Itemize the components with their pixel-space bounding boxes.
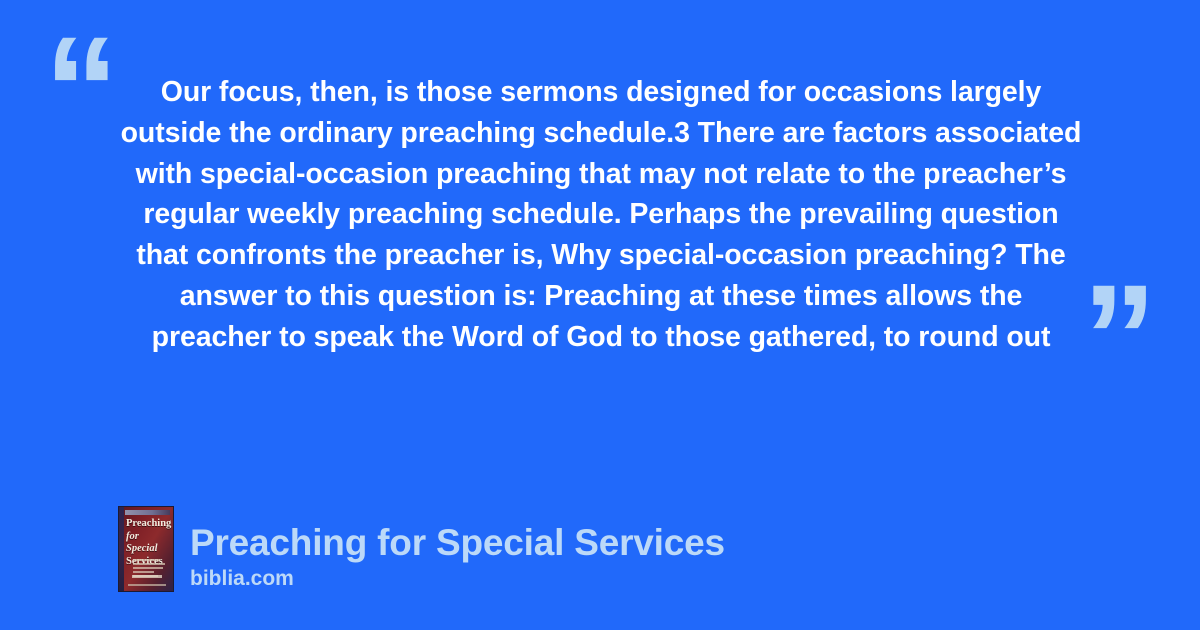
book-cover-top-band (125, 510, 170, 515)
book-cover-thumbnail: Preaching for Special Services (118, 506, 174, 592)
book-cover-subtitle-line (133, 567, 163, 569)
closing-quote-icon: ” (1082, 262, 1155, 412)
book-cover-title-line-1: Preaching (126, 518, 171, 529)
opening-quote-icon: “ (44, 14, 117, 164)
quote-card: “ Our focus, then, is those sermons desi… (0, 0, 1200, 630)
quote-text: Our focus, then, is those sermons design… (118, 72, 1084, 358)
book-spine (119, 507, 124, 591)
book-cover-title-line-2: for Special (126, 531, 158, 555)
book-title: Preaching for Special Services (190, 521, 725, 565)
book-cover-subtitle-line (133, 559, 160, 561)
site-name: biblia.com (190, 566, 725, 592)
book-cover-subtitle-line (133, 563, 165, 565)
book-cover-subtitle-line (133, 571, 154, 573)
book-cover-publisher-line (128, 584, 167, 587)
book-cover-author-line (132, 575, 162, 578)
attribution-footer: Preaching for Special Services Preaching… (118, 506, 725, 592)
attribution-text-block: Preaching for Special Services biblia.co… (190, 521, 725, 592)
